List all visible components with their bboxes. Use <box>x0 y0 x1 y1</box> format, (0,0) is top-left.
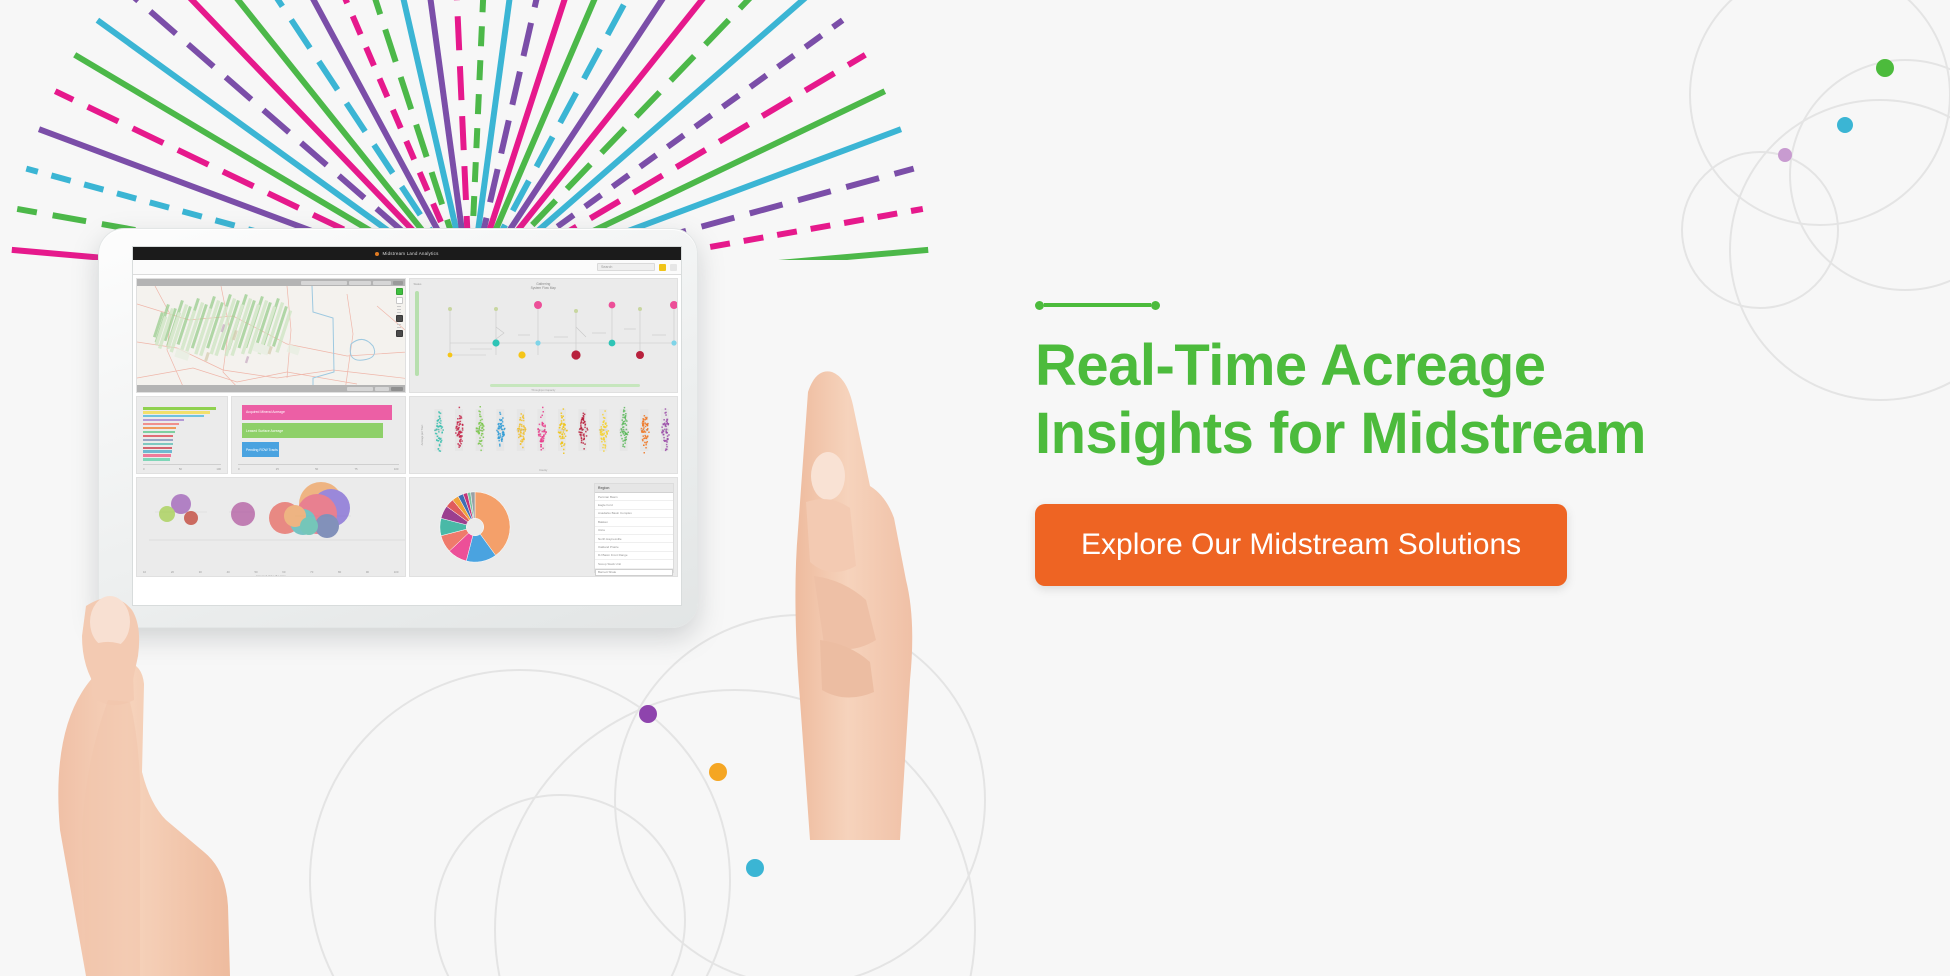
map-tick <box>397 309 401 310</box>
bigbars-axis <box>238 464 399 465</box>
deco-dot-green <box>1876 59 1894 77</box>
deco-dot-orange <box>709 763 727 781</box>
map-chip-basemap[interactable] <box>373 281 391 285</box>
accent-dot-left <box>1035 301 1044 310</box>
network-throughput-bar <box>490 384 640 387</box>
category-bar: Acquired Mineral Acreage <box>242 405 392 420</box>
deco-dot-purple <box>639 705 657 723</box>
map-chip-filter[interactable] <box>349 281 371 285</box>
network-canvas[interactable] <box>426 287 674 380</box>
map-basemap-button[interactable] <box>396 330 403 337</box>
map-footer-chip-zoom[interactable] <box>347 387 373 391</box>
map-canvas[interactable] <box>137 286 405 385</box>
table-row[interactable]: Utica <box>595 527 673 535</box>
radiating-arcs-graphic <box>0 0 980 260</box>
accent-line <box>1044 303 1151 307</box>
page-title: Real-Time Acreage Insights for Midstream <box>1035 332 1835 468</box>
table-row[interactable]: North Haynesville <box>595 535 673 543</box>
app-toolbar[interactable]: Search <box>133 260 681 275</box>
search-input[interactable]: Search <box>597 263 655 271</box>
category-bar-list: Acquired Mineral AcreageLeased Surface A… <box>242 403 397 459</box>
axis-tick: 100 <box>394 467 399 471</box>
headline-line-1: Real-Time Acreage <box>1035 333 1546 398</box>
app-title: Midstream Land Analytics <box>382 251 438 256</box>
network-legend-label: Status <box>414 282 422 286</box>
marketing-copy: Real-Time Acreage Insights for Midstream… <box>1035 300 1835 586</box>
table-row[interactable]: Eagle Ford <box>595 501 673 509</box>
accent-dot-right <box>1151 301 1160 310</box>
map-chip-more[interactable] <box>393 281 403 285</box>
app-title-bar: Midstream Land Analytics <box>133 247 681 260</box>
map-toolbar[interactable] <box>137 279 405 286</box>
map-tick <box>397 324 401 325</box>
map-fullscreen-button[interactable] <box>396 297 403 304</box>
map-tick <box>397 327 401 328</box>
map-tick <box>397 312 401 313</box>
table-row[interactable]: Anadarko Basin Complex <box>595 510 673 518</box>
bigbars-axis-ticks: 0255075100 <box>238 467 399 471</box>
app-logo-icon <box>375 252 379 256</box>
right-hand <box>770 280 1030 840</box>
axis-tick: 90 <box>366 570 369 574</box>
deco-dot-pink <box>1778 148 1792 162</box>
axis-tick: 25 <box>276 467 279 471</box>
menu-icon[interactable] <box>670 264 677 271</box>
axis-tick: 60 <box>282 570 285 574</box>
map-chip-maptype[interactable] <box>301 281 347 285</box>
table-row[interactable]: Permian Basin <box>595 493 673 501</box>
map-footer-chip-reset[interactable] <box>375 387 389 391</box>
deco-dot-cyan-2 <box>746 859 764 877</box>
region-table-header[interactable]: Region <box>595 484 673 493</box>
axis-tick: 80 <box>338 570 341 574</box>
warning-icon[interactable] <box>659 264 666 271</box>
left-hand <box>0 400 250 976</box>
region-table-body: Permian BasinEagle FordAnadarko Basin Co… <box>595 493 673 577</box>
acreage-by-category-bar-panel[interactable]: Acquired Mineral AcreageLeased Surface A… <box>231 396 406 474</box>
category-bar: Leased Surface Acreage <box>242 423 383 438</box>
table-row[interactable]: Barnett Shale <box>595 569 673 577</box>
axis-tick: 70 <box>310 570 313 574</box>
map-tick <box>397 306 401 307</box>
axis-tick: 100 <box>394 570 399 574</box>
green-accent-rule <box>1035 300 1160 310</box>
acreage-map-panel[interactable] <box>136 278 406 393</box>
acreage-share-donut-panel[interactable]: Region Permian BasinEagle FordAnadarko B… <box>409 477 679 577</box>
table-row[interactable]: DJ Basin Front Range <box>595 552 673 560</box>
banner-root: Midstream Land Analytics Search <box>0 0 1950 976</box>
pipeline-network-panel[interactable]: Gathering System Flow Map Status <box>409 278 679 393</box>
network-pressure-scale <box>415 291 419 376</box>
explore-solutions-button[interactable]: Explore Our Midstream Solutions <box>1035 504 1567 586</box>
map-footer-toolbar[interactable] <box>137 385 405 392</box>
table-row[interactable]: Oakland Prairie <box>595 543 673 551</box>
axis-tick: 75 <box>354 467 357 471</box>
map-footer-chip-export[interactable] <box>391 387 403 391</box>
swarm-canvas[interactable] <box>422 401 676 457</box>
network-footer-label: Throughput Capacity <box>410 389 678 392</box>
deco-dot-cyan <box>1837 117 1853 133</box>
table-row[interactable]: Bakken <box>595 518 673 526</box>
map-layers-toggle[interactable] <box>396 288 403 295</box>
map-measure-button[interactable] <box>396 315 403 322</box>
axis-tick: 50 <box>254 570 257 574</box>
acreage-distribution-swarm-panel[interactable]: Acreage per Tract County <box>409 396 679 474</box>
table-row[interactable]: Scoop Stack Unit <box>595 560 673 568</box>
region-table[interactable]: Region Permian BasinEagle FordAnadarko B… <box>594 483 674 573</box>
headline-line-2: Insights for Midstream <box>1035 401 1646 466</box>
axis-tick: 50 <box>315 467 318 471</box>
swarm-x-label: County <box>410 469 678 472</box>
map-control-rail[interactable] <box>395 288 404 377</box>
